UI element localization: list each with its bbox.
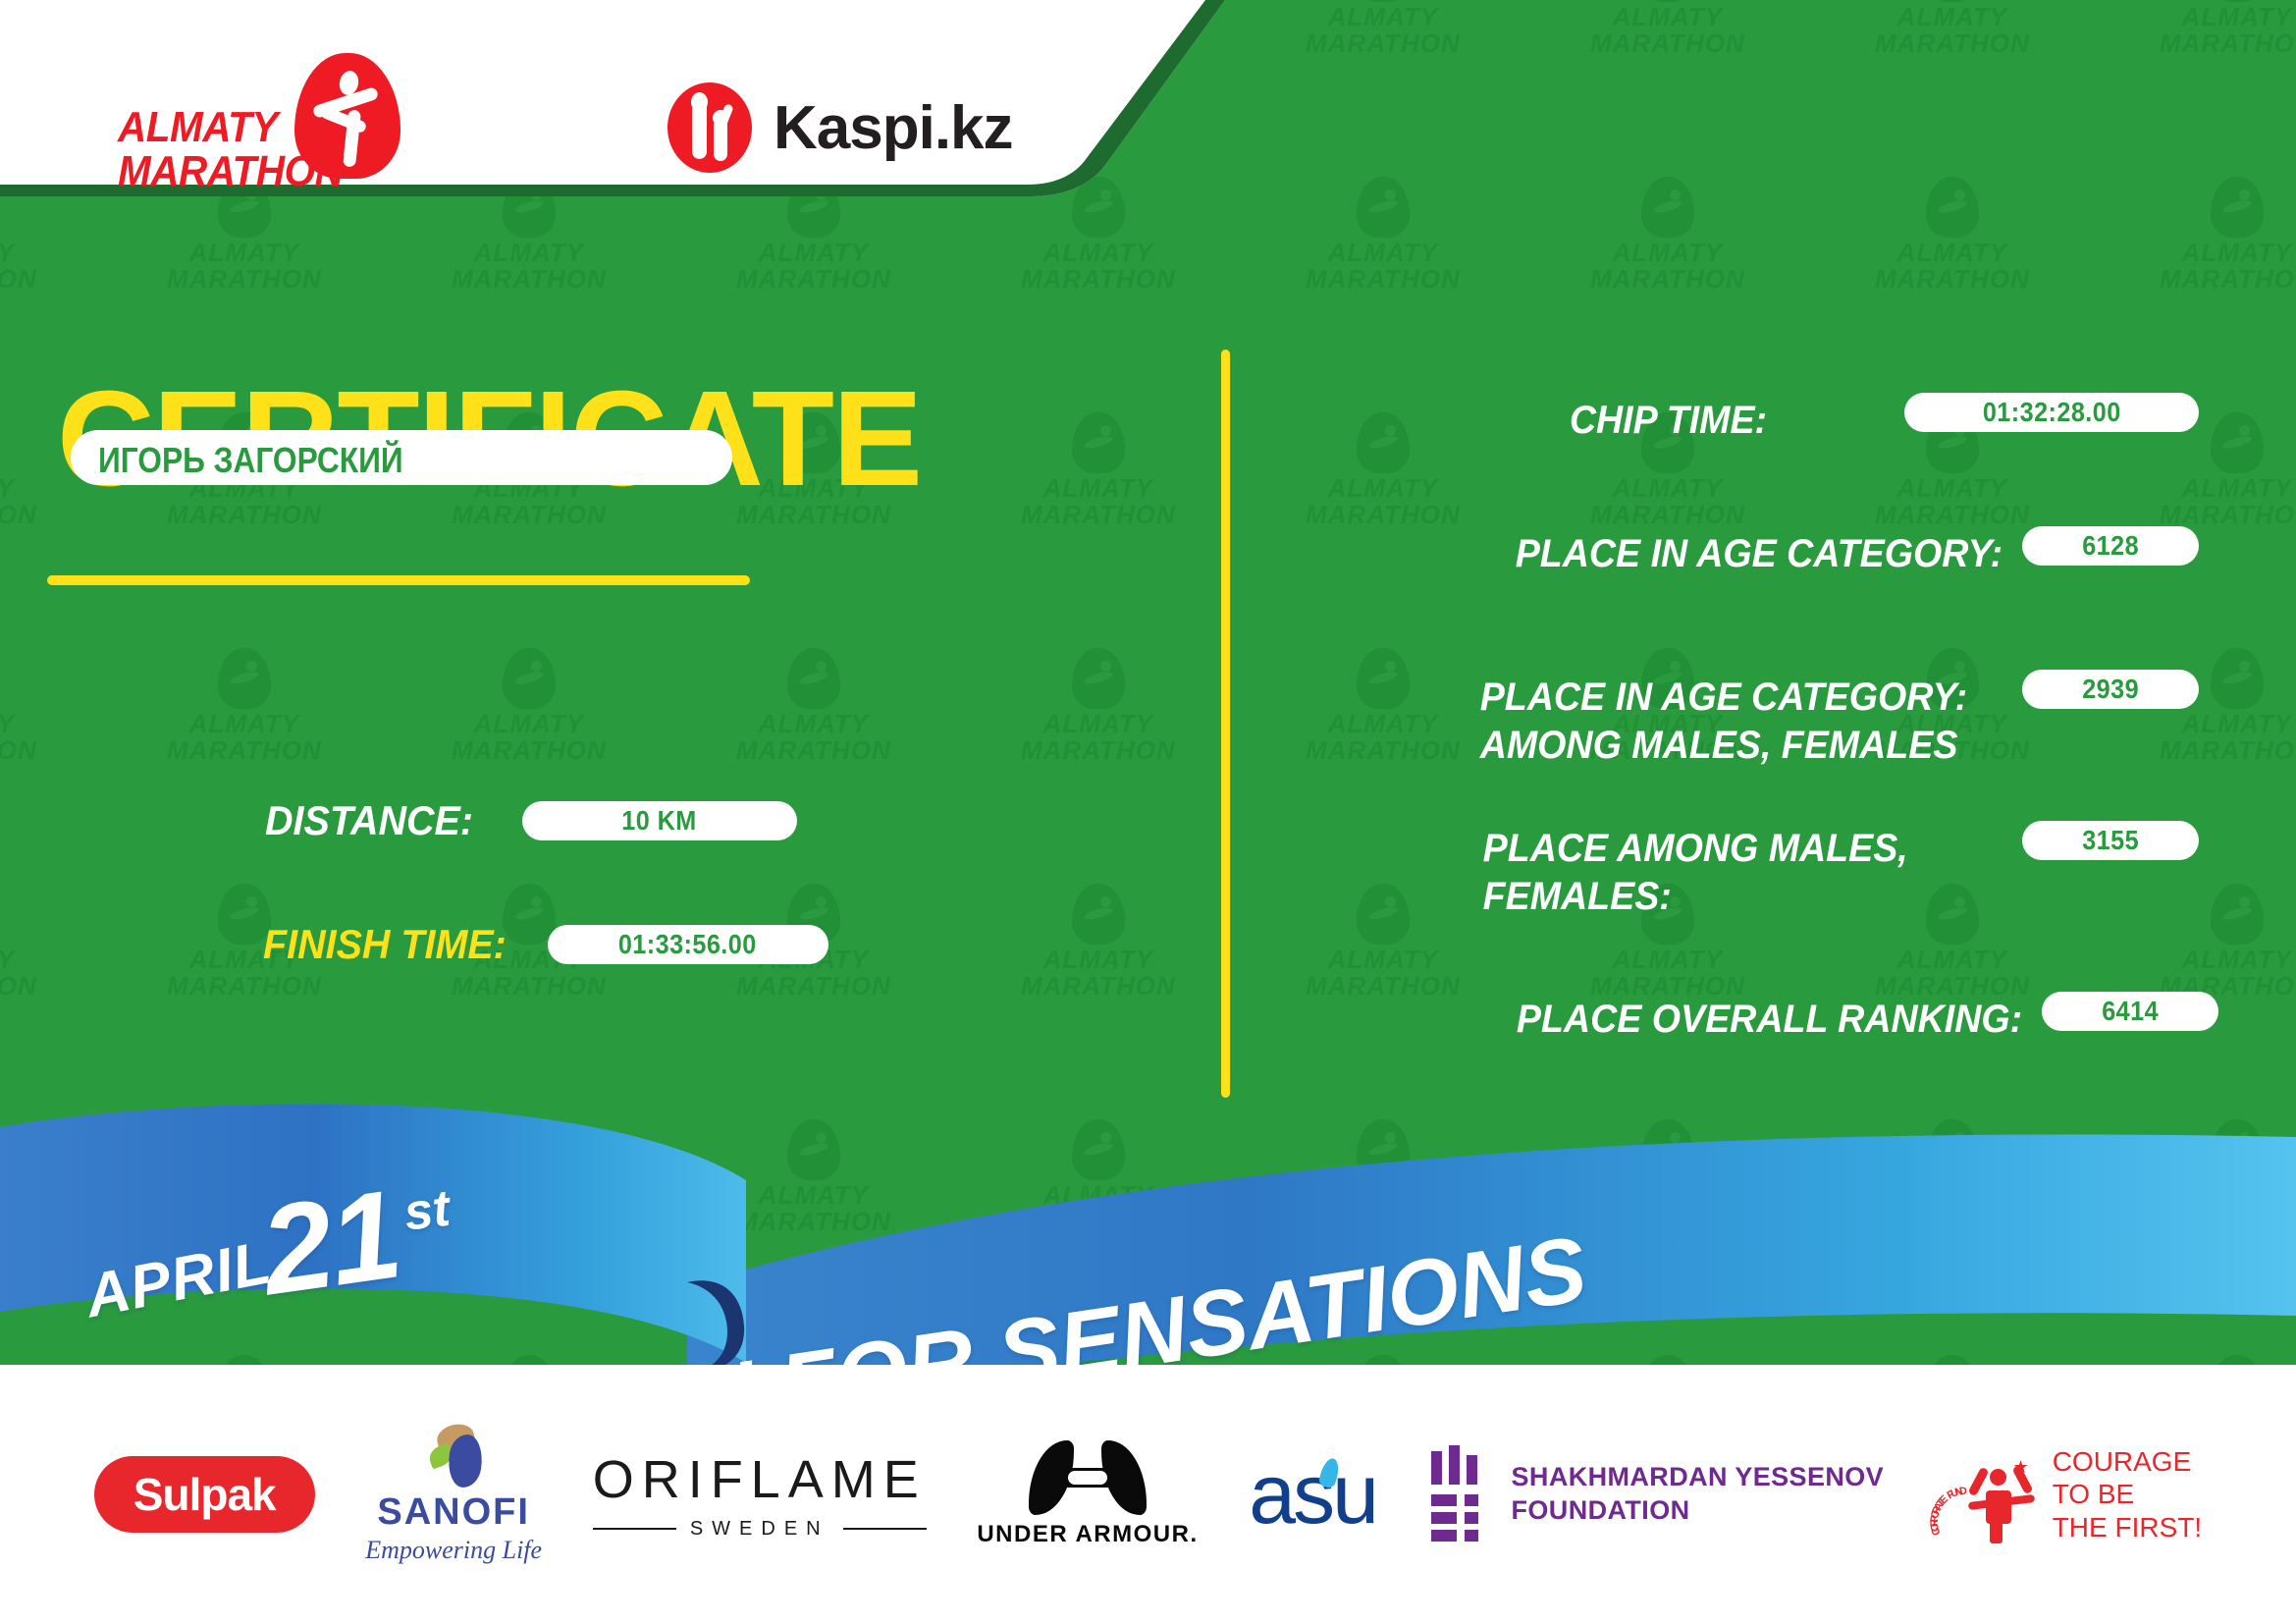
place-age-category-gender-label: PLACE IN AGE CATEGORY: AMONG MALES, FEMA… — [1479, 674, 1967, 770]
place-overall-ranking-value-pill: 6414 — [2042, 992, 2218, 1031]
sponsor-oriflame: ORIFLAME SWEDEN — [593, 1426, 927, 1563]
place-age-category-gender-value: 2939 — [2082, 674, 2139, 705]
oriflame-rule-right — [843, 1528, 927, 1530]
oriflame-rule-left — [593, 1528, 676, 1530]
place-age-category-value-pill: 6128 — [2022, 526, 2199, 566]
place-overall-ranking-label: PLACE OVERALL RANKING: — [1517, 996, 2022, 1044]
right-column: CHIP TIME: 01:32:28.00 PLACE IN AGE CATE… — [1276, 0, 2296, 1110]
place-overall-ranking-value: 6414 — [2102, 996, 2159, 1027]
oriflame-logo: ORIFLAME SWEDEN — [593, 1449, 927, 1541]
sanofi-wordmark: SANOFI — [365, 1491, 542, 1534]
place-age-category-value: 6128 — [2082, 530, 2139, 562]
asu-logo: asu — [1249, 1452, 1376, 1537]
place-among-gender-value-pill: 3155 — [2022, 821, 2199, 860]
left-column: CERTIFICATE ИГОРЬ ЗАГОРСКИЙ DISTANCE: 10… — [0, 0, 1207, 1110]
courage-wordmark: COURAGE TO BE THE FIRST! — [2053, 1445, 2202, 1544]
courage-to-be-the-first-logo: CORPORATE FUND ★ COURAGE TO BE THE FIRST… — [1935, 1443, 2202, 1545]
oriflame-tagline: SWEDEN — [690, 1518, 829, 1541]
under-armour-logo: UNDER ARMOUR. — [977, 1440, 1198, 1548]
sponsor-yessenov: SHAKHMARDAN YESSENOV FOUNDATION — [1427, 1426, 1885, 1563]
sponsor-sulpak: Sulpak — [94, 1426, 315, 1563]
under-armour-mark-icon — [1029, 1440, 1147, 1515]
vertical-divider — [1221, 350, 1230, 1098]
yessenov-mark-icon — [1427, 1445, 1488, 1543]
distance-label: DISTANCE: — [265, 797, 473, 844]
distance-row: DISTANCE: 10 KM — [265, 797, 797, 844]
sanofi-mark-icon — [419, 1425, 488, 1488]
ribbon-day: 21 — [253, 1162, 407, 1324]
certificate-page: ALMATYMARATHONALMATYMARATHONALMATYMARATH… — [0, 0, 2296, 1624]
place-among-gender-label: PLACE AMONG MALES, FEMALES: — [1483, 825, 1908, 921]
shakhmardan-yessenov-foundation-logo: SHAKHMARDAN YESSENOV FOUNDATION — [1427, 1445, 1885, 1543]
sponsor-bar: Sulpak SANOFI Empowering Life ORIFLAME S… — [0, 1365, 2296, 1624]
sponsor-courage: CORPORATE FUND ★ COURAGE TO BE THE FIRST… — [1935, 1426, 2202, 1563]
oriflame-wordmark: ORIFLAME — [593, 1449, 927, 1510]
participant-name-value: ИГОРЬ ЗАГОРСКИЙ — [98, 440, 403, 481]
chip-time-value: 01:32:28.00 — [1983, 397, 2121, 428]
yessenov-wordmark: SHAKHMARDAN YESSENOV FOUNDATION — [1512, 1461, 1885, 1528]
distance-value-pill: 10 KM — [522, 801, 797, 840]
finish-time-label: FINISH TIME: — [263, 921, 507, 968]
courage-runner-icon: ★ — [1974, 1459, 2031, 1542]
sanofi-tagline: Empowering Life — [365, 1536, 542, 1565]
finish-time-value-pill: 01:33:56.00 — [548, 925, 828, 964]
sponsor-under-armour: UNDER ARMOUR. — [977, 1426, 1198, 1563]
place-age-category-gender-value-pill: 2939 — [2022, 670, 2199, 709]
title-underline — [47, 575, 750, 585]
place-age-category-label: PLACE IN AGE CATEGORY: — [1515, 530, 2002, 578]
chip-time-value-pill: 01:32:28.00 — [1904, 393, 2199, 432]
sponsor-asu: asu — [1249, 1426, 1376, 1563]
place-among-gender-value: 3155 — [2082, 825, 2139, 856]
finish-time-row: FINISH TIME: 01:33:56.00 — [263, 921, 828, 968]
finish-time-value: 01:33:56.00 — [618, 929, 757, 960]
chip-time-label: CHIP TIME: — [1570, 397, 1767, 445]
ribbon-ordinal: st — [400, 1179, 453, 1243]
sponsor-sanofi: SANOFI Empowering Life — [365, 1426, 542, 1563]
sanofi-logo: SANOFI Empowering Life — [365, 1425, 542, 1565]
sulpak-logo: Sulpak — [94, 1456, 315, 1533]
courage-mark-icon: CORPORATE FUND ★ — [1935, 1443, 2037, 1545]
distance-value: 10 KM — [621, 805, 696, 837]
asu-wordmark: asu — [1249, 1452, 1376, 1537]
under-armour-wordmark: UNDER ARMOUR. — [977, 1521, 1198, 1548]
